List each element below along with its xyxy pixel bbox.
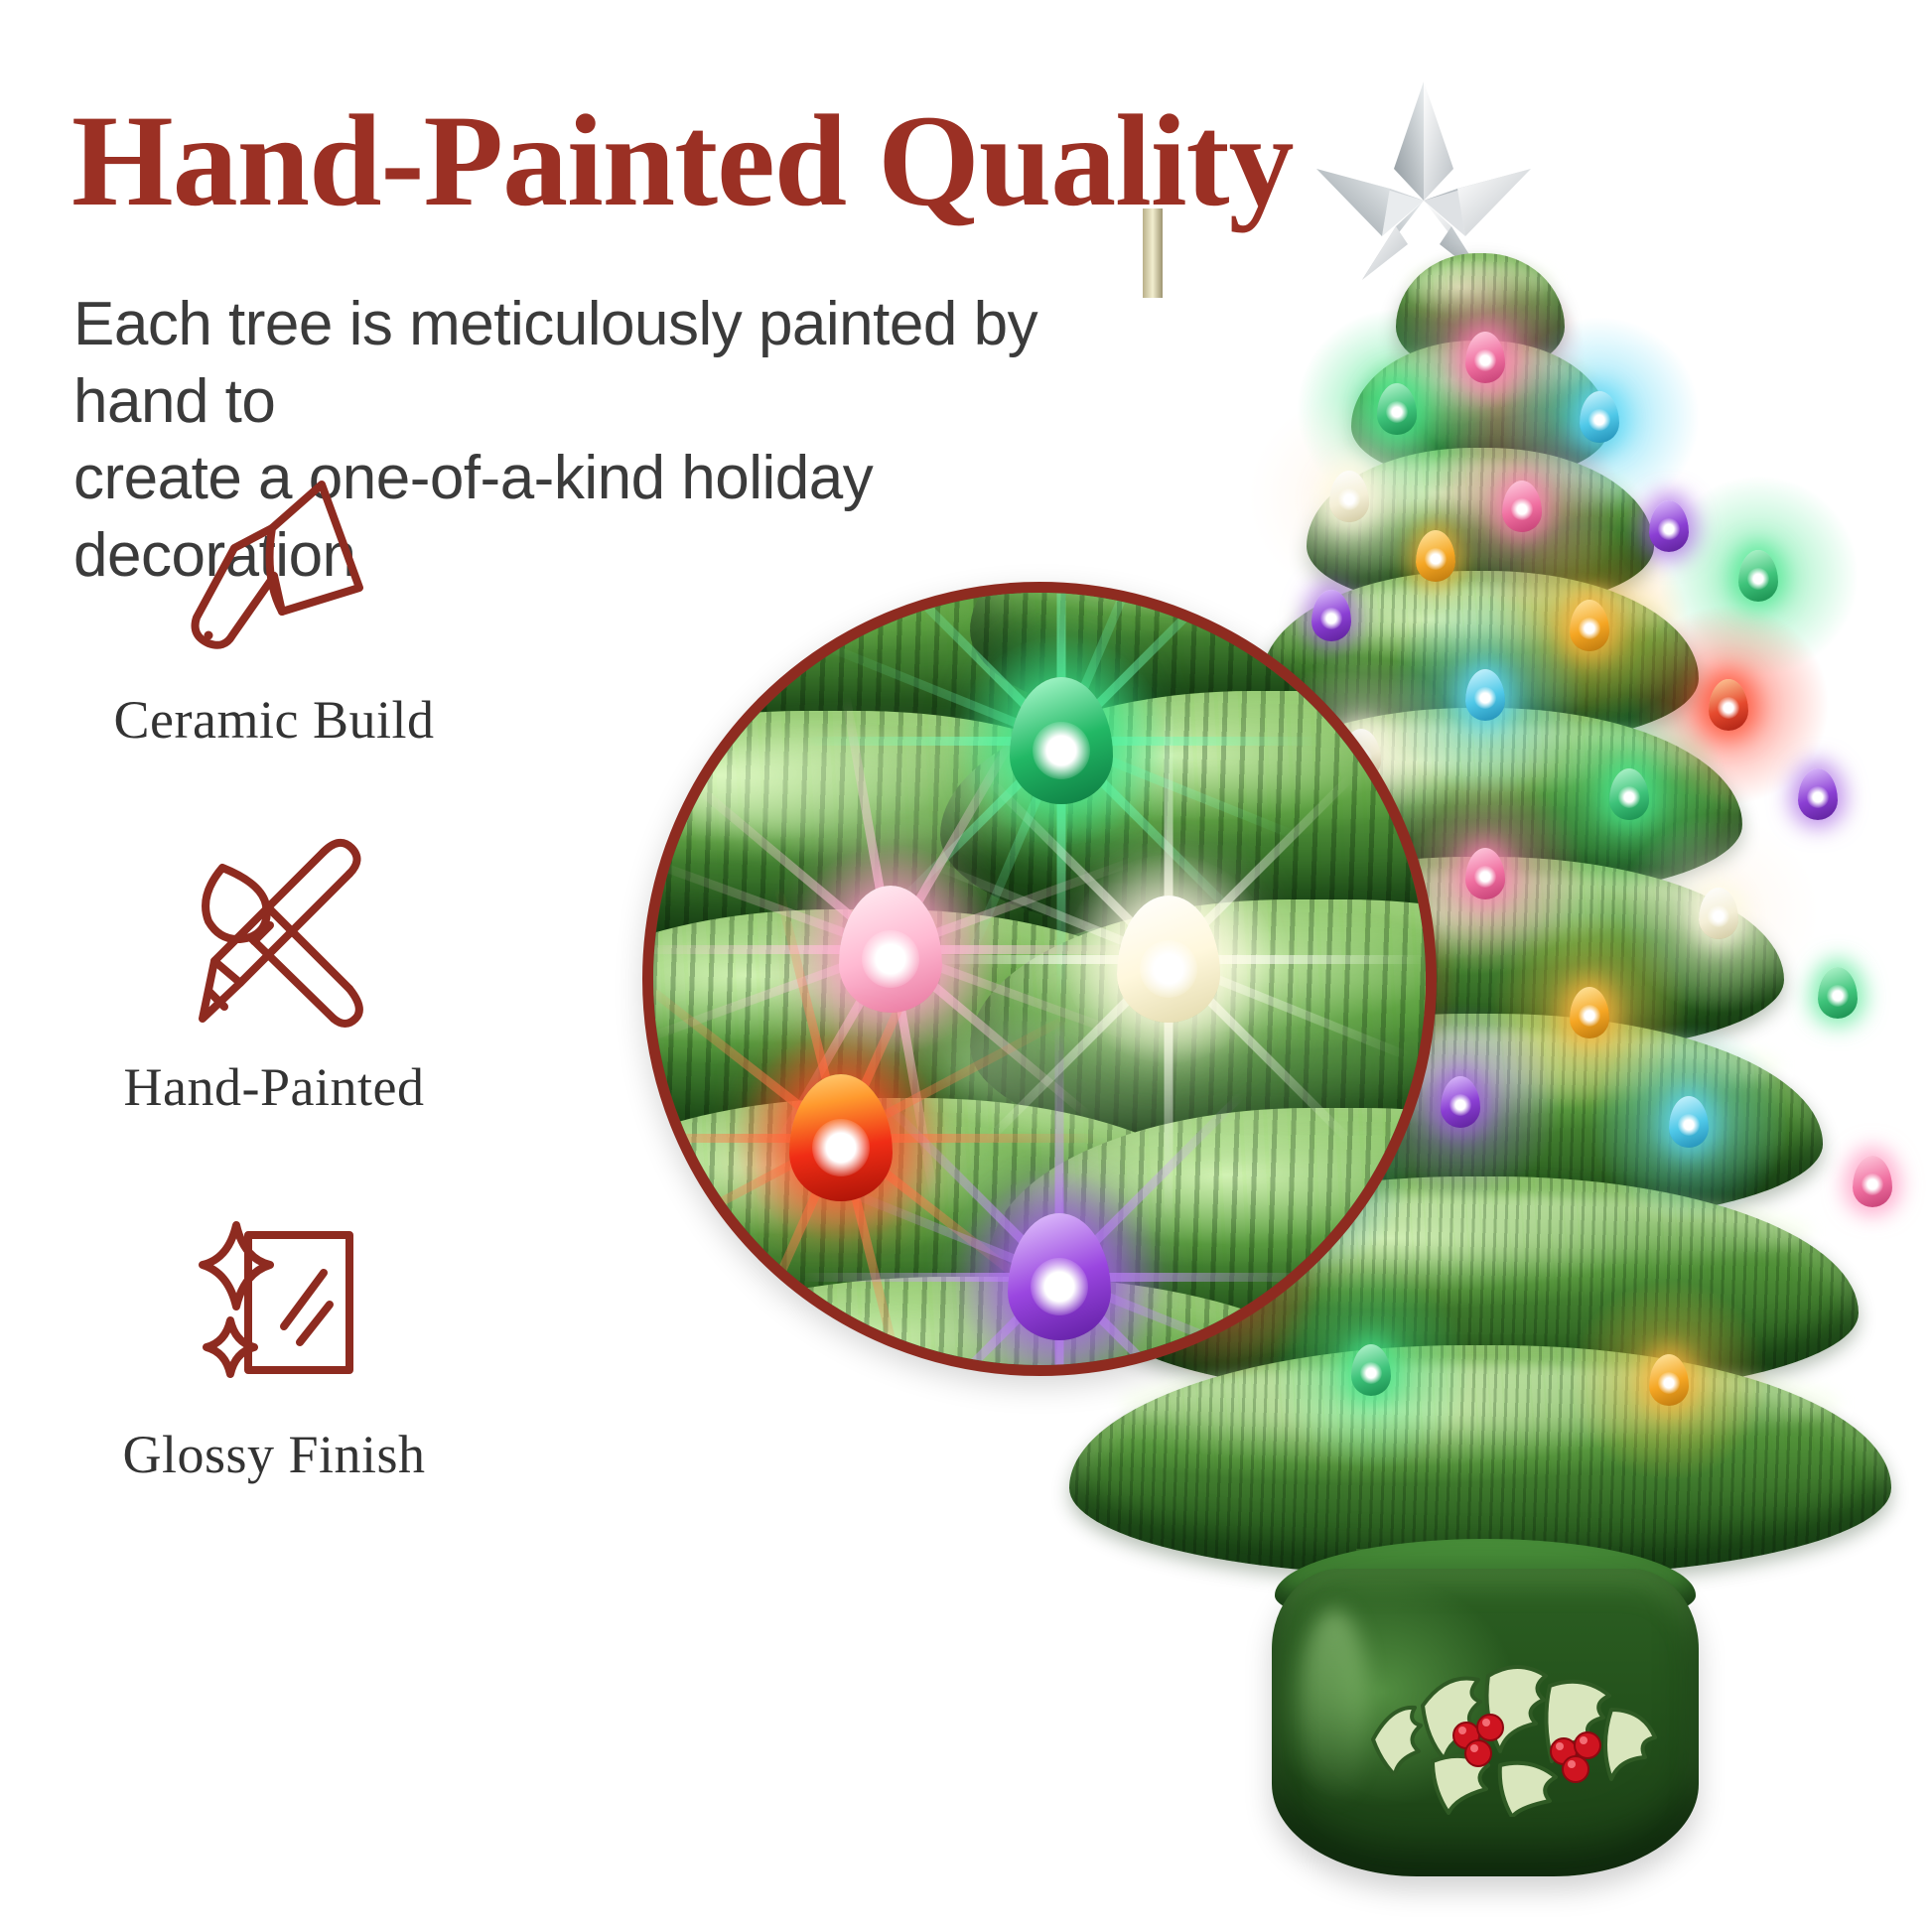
feature-item-hand-painted: Hand-Painted [75,834,473,1118]
sparkle-gloss-icon [175,1201,373,1400]
feature-label-glossy-finish: Glossy Finish [122,1424,425,1485]
magnifier-content [642,582,1437,1376]
feature-item-ceramic-build: Ceramic Build [75,467,473,751]
detail-magnifier [642,582,1437,1376]
feature-list: Ceramic Build Hand-Painted [75,467,473,1485]
feature-item-glossy-finish: Glossy Finish [75,1201,473,1485]
feature-label-ceramic-build: Ceramic Build [114,689,435,751]
base-highlight [1300,1608,1369,1807]
feature-label-hand-painted: Hand-Painted [124,1056,425,1118]
paintbrush-pencil-icon [175,834,373,1033]
pottery-tool-icon [175,467,373,665]
holly-berry-decoration-icon [1361,1648,1659,1817]
